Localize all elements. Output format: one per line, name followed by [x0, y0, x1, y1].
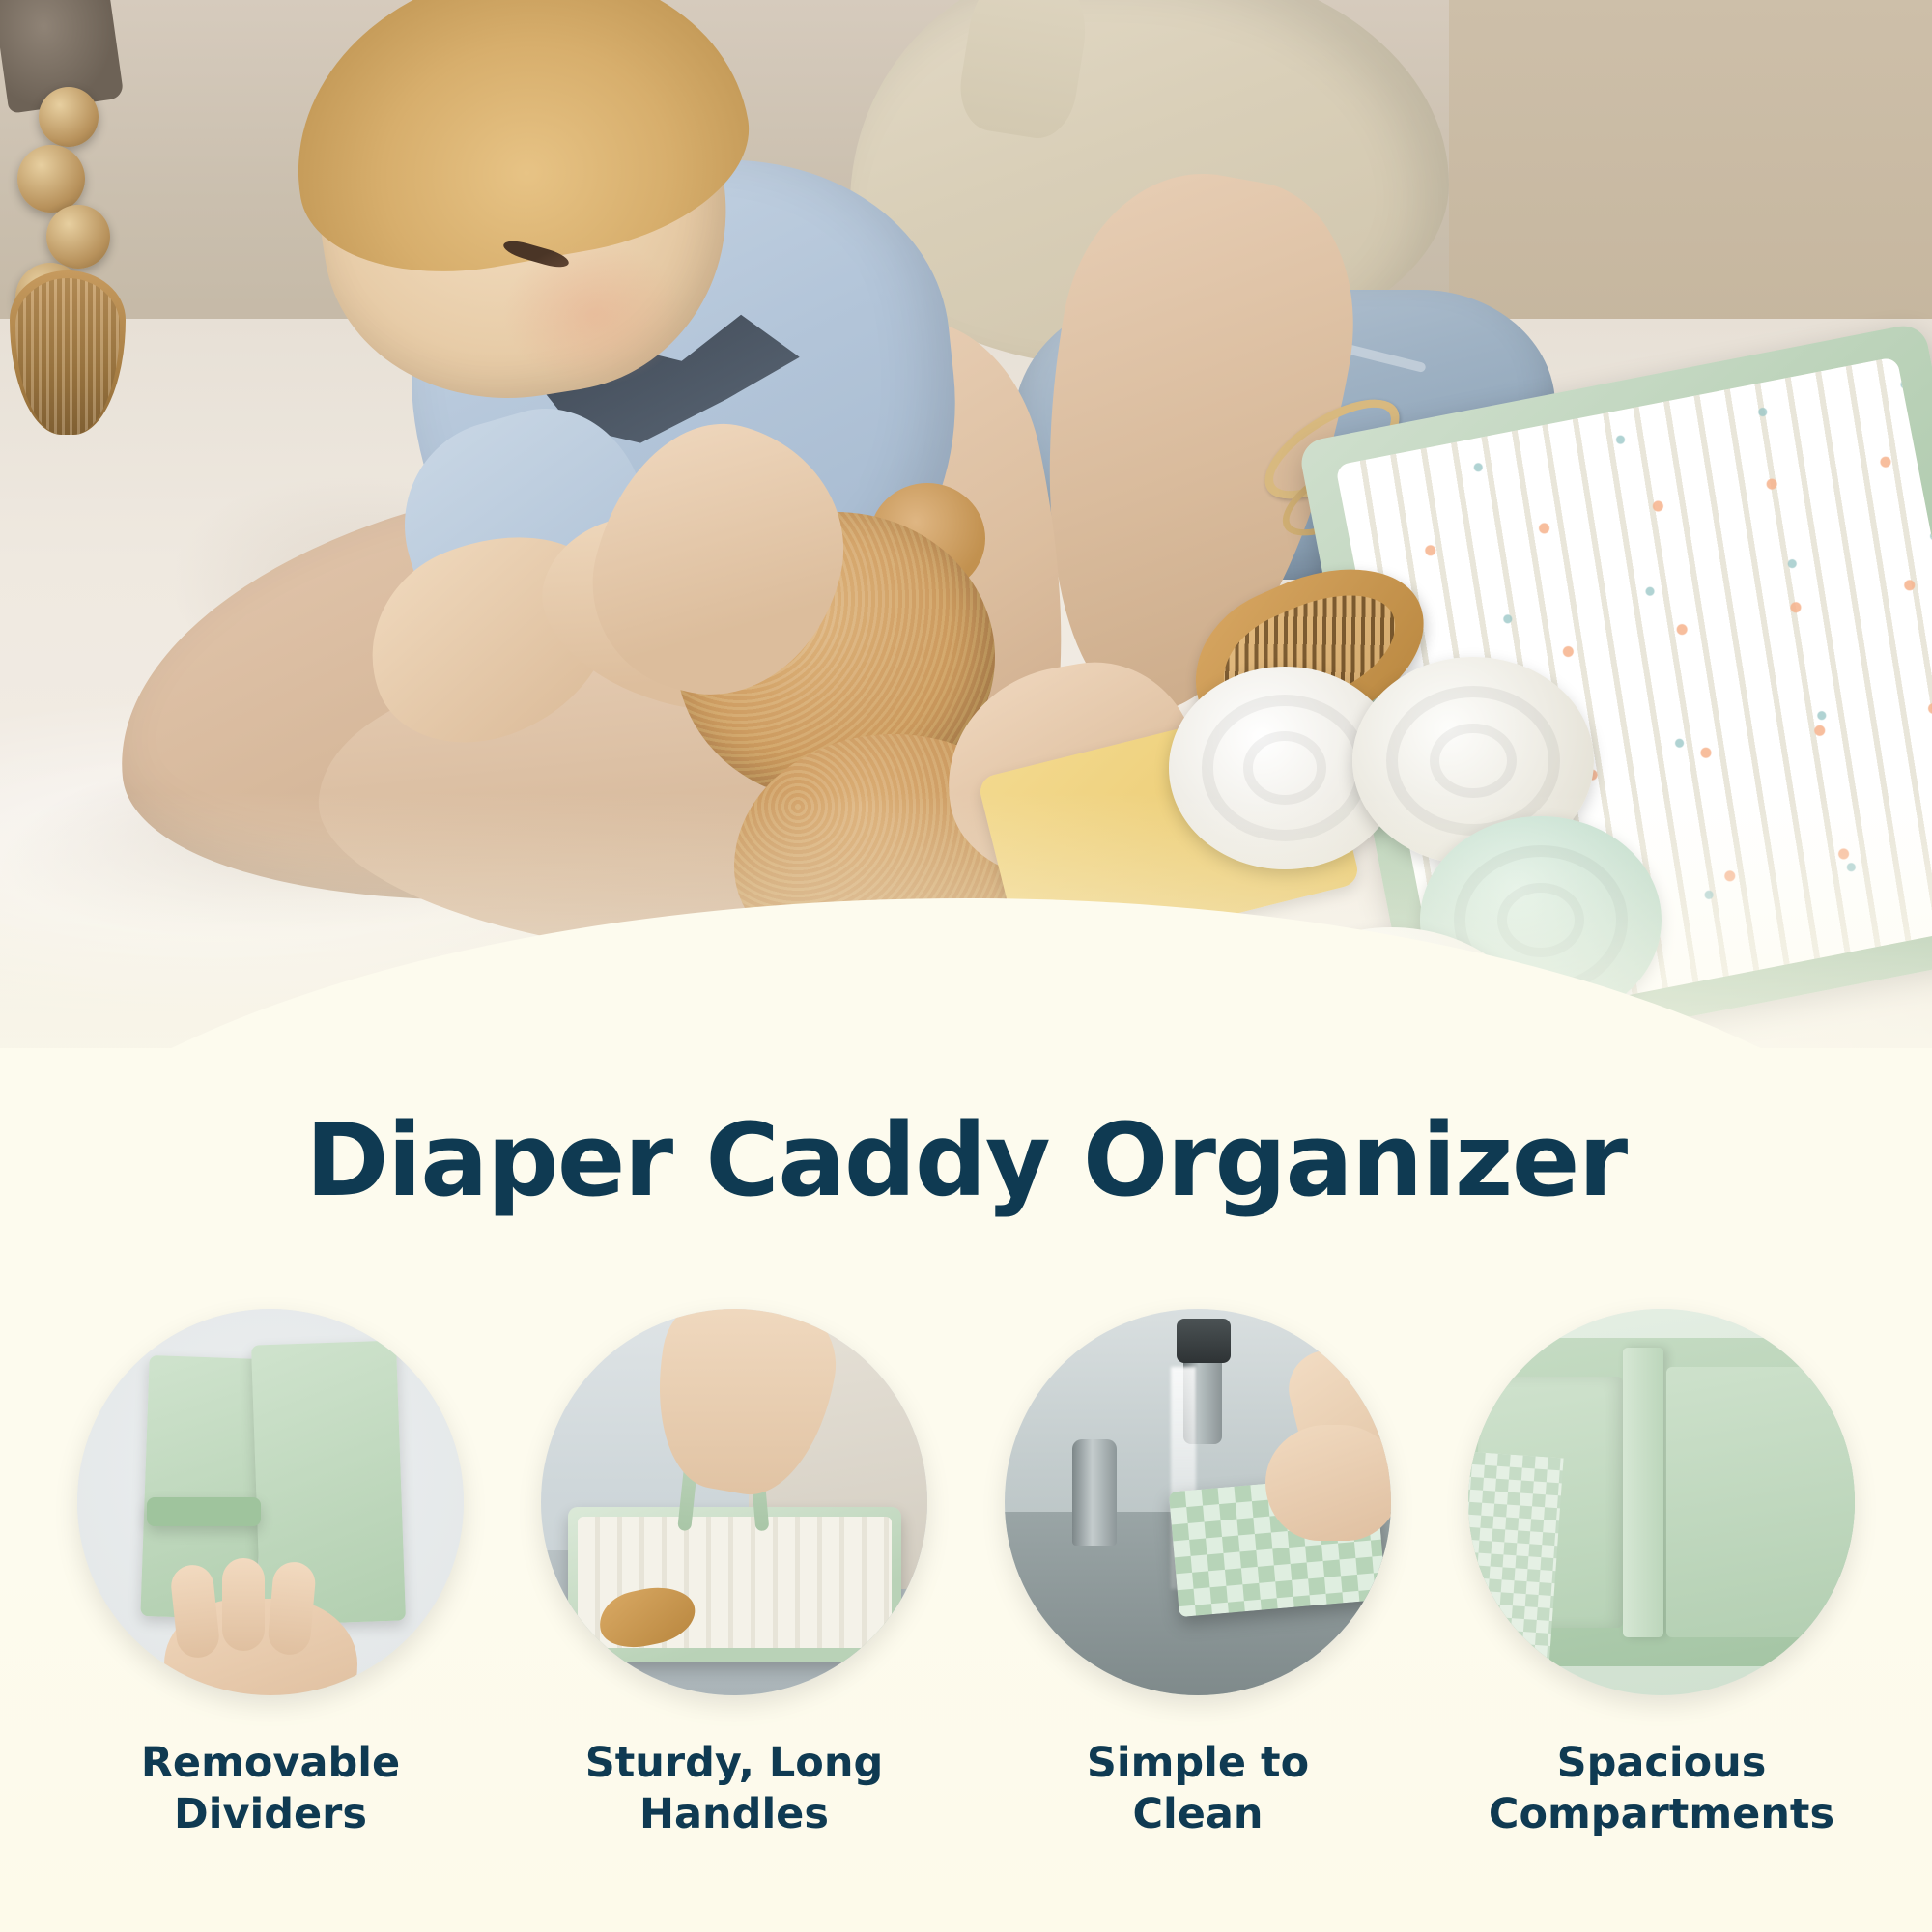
faucet-head: [1177, 1319, 1231, 1363]
hero-photo: [0, 0, 1932, 1121]
feature-thumbnail-removable-dividers: [77, 1309, 464, 1695]
tassel-decor: [10, 270, 126, 435]
feature-thumbnail-simple-to-clean: [1005, 1309, 1391, 1695]
feature-thumbnail-sturdy-long-handles: [541, 1309, 927, 1695]
feature-caption: Simple to Clean: [1087, 1738, 1309, 1841]
hand: [1265, 1425, 1391, 1541]
feature-caption: Removable Dividers: [141, 1738, 400, 1841]
feature-caption: Spacious Compartments: [1489, 1738, 1834, 1841]
feature-caption: Sturdy, Long Handles: [585, 1738, 883, 1841]
baby-cheek: [502, 241, 686, 386]
feature-spacious-compartments: Spacious Compartments: [1459, 1309, 1864, 1841]
divider-panel: [1623, 1348, 1663, 1637]
content-panel: Diaper Caddy Organizer Removable Divider…: [0, 1048, 1932, 1932]
feature-sturdy-long-handles: Sturdy, Long Handles: [531, 1309, 937, 1841]
checkered-exterior: [1468, 1450, 1564, 1695]
compartment-right: [1666, 1367, 1855, 1637]
feature-row: Removable Dividers Sturdy, Long Handles: [0, 1309, 1932, 1841]
feature-thumbnail-spacious-compartments: [1468, 1309, 1855, 1695]
product-infographic: Diaper Caddy Organizer Removable Divider…: [0, 0, 1932, 1932]
feature-removable-dividers: Removable Dividers: [68, 1309, 473, 1841]
soap-dispenser: [1072, 1439, 1117, 1546]
feature-simple-to-clean: Simple to Clean: [995, 1309, 1401, 1841]
page-title: Diaper Caddy Organizer: [0, 1101, 1932, 1219]
beaded-garland-decor: [0, 0, 155, 444]
